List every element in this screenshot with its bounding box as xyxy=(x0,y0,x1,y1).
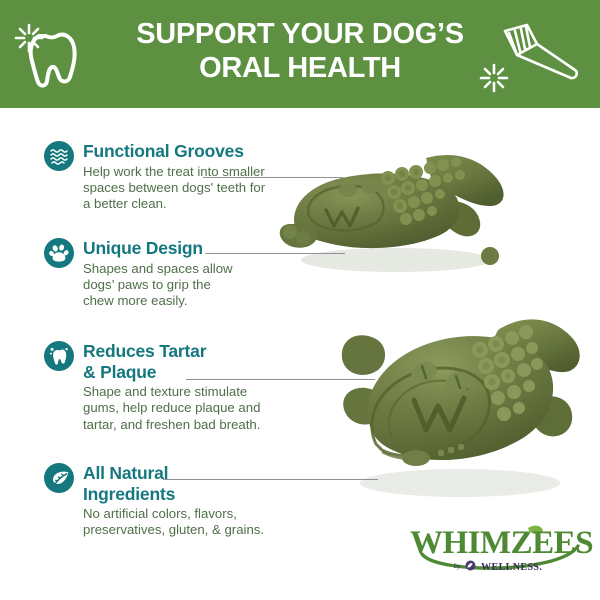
feature-title: All Natural Ingredients xyxy=(83,463,334,504)
feature-description: Help work the treat into smaller spaces … xyxy=(83,164,334,213)
header-banner: SUPPORT YOUR DOG’S ORAL HEALTH xyxy=(0,0,600,108)
product-photo-alligator-large xyxy=(330,278,592,508)
feature-item-reduces-tartar-plaque: Reduces Tartar & Plaque Shape and textur… xyxy=(44,341,334,433)
logo-brand-text: WELLNESS. xyxy=(481,562,542,573)
feature-title: Functional Grooves xyxy=(83,141,334,162)
leaf-icon xyxy=(44,463,74,493)
feature-title: Reduces Tartar & Plaque xyxy=(83,341,334,382)
sparkling-tooth-icon xyxy=(44,341,74,371)
feature-item-functional-grooves: Functional Grooves Help work the treat i… xyxy=(44,141,334,213)
feature-title: Unique Design xyxy=(83,238,334,259)
logo-wordmark: WHIMZEES xyxy=(410,526,586,560)
title-line-1: SUPPORT YOUR DOG’S xyxy=(136,18,464,50)
logo-by-text: by xyxy=(454,562,461,570)
feature-description: Shapes and spaces allow dogs’ paws to gr… xyxy=(83,261,334,310)
sparkle-icon xyxy=(478,62,510,94)
infographic-root: SUPPORT YOUR DOG’S ORAL HEALTH xyxy=(0,0,600,600)
feature-list: Functional Grooves Help work the treat i… xyxy=(0,108,330,600)
feature-description: Shape and texture stimulate gums, help r… xyxy=(83,384,334,433)
feature-item-all-natural-ingredients: All Natural Ingredients No artificial co… xyxy=(44,463,334,539)
page-title: SUPPORT YOUR DOG’S ORAL HEALTH xyxy=(100,17,500,85)
feature-item-unique-design: Unique Design Shapes and spaces allow do… xyxy=(44,238,334,310)
waves-grooves-icon xyxy=(44,141,74,171)
feature-description: No artificial colors, flavors, preservat… xyxy=(83,506,334,539)
brand-logo: WHIMZEES by WELLNESS. xyxy=(410,524,586,580)
tooth-icon xyxy=(26,27,82,89)
title-line-2: ORAL HEALTH xyxy=(100,51,500,85)
logo-subtitle: by WELLNESS. xyxy=(410,560,586,574)
paw-print-icon xyxy=(44,238,74,268)
wellness-emblem-icon xyxy=(464,560,477,571)
